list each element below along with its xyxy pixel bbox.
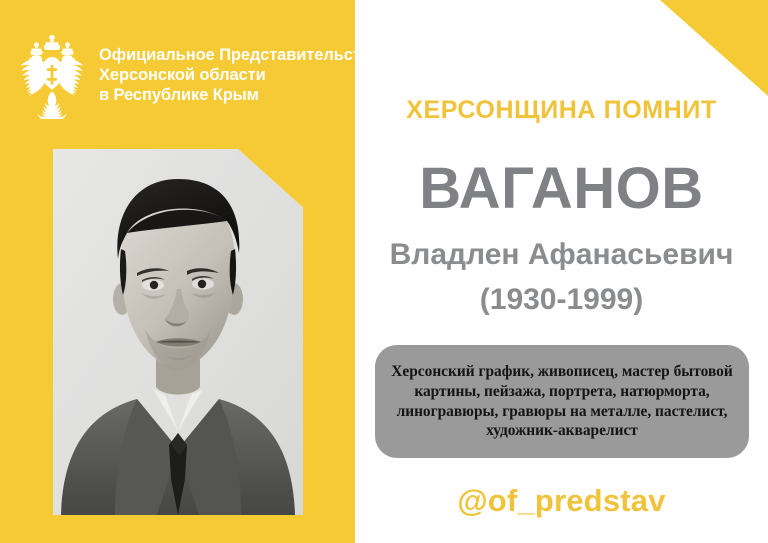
brand-line-3: в Республике Крым	[99, 86, 381, 106]
biography-text: Херсонский график, живописец, мастер быт…	[391, 362, 733, 440]
portrait-illustration	[53, 149, 303, 515]
double-headed-eagle-emblem	[14, 33, 90, 119]
content-panel: ХЕРСОНЩИНА ПОМНИТ ВАГАНОВ Владлен Афанас…	[355, 0, 768, 543]
kicker-heading: ХЕРСОНЩИНА ПОМНИТ	[355, 96, 768, 125]
brand-line-1: Официальное Представительство	[99, 46, 381, 66]
poster-canvas: ХЕРСОНЩИНА ПОМНИТ ВАГАНОВ Владлен Афанас…	[0, 0, 768, 543]
social-handle[interactable]: @of_predstav	[355, 483, 768, 519]
biography-box: Херсонский график, живописец, мастер быт…	[375, 345, 749, 458]
brand-lockup: Официальное Представительство Херсонской…	[14, 31, 349, 121]
given-name-heading: Владлен Афанасьевич	[355, 240, 768, 270]
surname-heading: ВАГАНОВ	[355, 160, 768, 218]
lifespan-text: (1930-1999)	[355, 285, 768, 315]
brand-text-block: Официальное Представительство Херсонской…	[99, 46, 381, 106]
portrait-photo	[53, 149, 303, 515]
brand-panel: Официальное Представительство Херсонской…	[0, 0, 355, 543]
brand-line-2: Херсонской области	[99, 66, 381, 86]
corner-triangle-decoration	[660, 0, 768, 96]
